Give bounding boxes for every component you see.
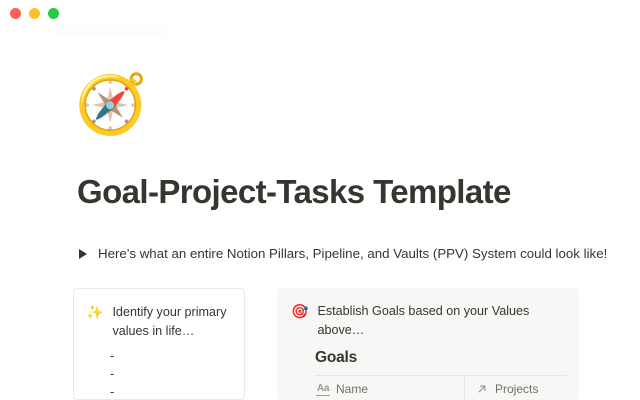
callout-text: Identify your primary values in life…	[112, 303, 232, 341]
callout-text: Establish Goals based on your Values abo…	[317, 302, 555, 340]
table-header-row: Aa Name Projects	[315, 376, 567, 400]
values-callout-card[interactable]: ✨ Identify your primary values in life… …	[73, 288, 245, 400]
values-bullet-list: - - -	[86, 347, 232, 400]
callout-header: 🎯 Establish Goals based on your Values a…	[277, 302, 579, 340]
page-content: 🧭 Goal-Project-Tasks Template Here's wha…	[0, 0, 640, 400]
goals-database-table: Aa Name Projects	[315, 375, 567, 400]
column-header-name[interactable]: Aa Name	[315, 376, 465, 400]
minimize-window-button[interactable]	[29, 8, 40, 19]
database-title[interactable]: Goals	[315, 349, 579, 367]
toggle-label: Here's what an entire Notion Pillars, Pi…	[98, 245, 607, 263]
list-item[interactable]: -	[110, 383, 232, 400]
list-item[interactable]: -	[110, 347, 232, 365]
maximize-window-button[interactable]	[48, 8, 59, 19]
close-window-button[interactable]	[10, 8, 21, 19]
column-header-label: Name	[336, 382, 368, 396]
triangle-right-icon[interactable]	[77, 245, 89, 263]
sparkles-emoji: ✨	[86, 303, 103, 321]
dart-emoji: 🎯	[291, 302, 308, 320]
page-title: Goal-Project-Tasks Template	[77, 173, 511, 211]
goals-callout-card[interactable]: 🎯 Establish Goals based on your Values a…	[277, 288, 579, 400]
compass-emoji[interactable]: 🧭	[75, 76, 147, 134]
arrow-up-right-icon	[475, 382, 489, 396]
toggle-block[interactable]: Here's what an entire Notion Pillars, Pi…	[77, 245, 577, 263]
callout-header: ✨ Identify your primary values in life…	[86, 303, 232, 341]
column-list: ✨ Identify your primary values in life… …	[73, 288, 579, 400]
column-header-projects[interactable]: Projects	[465, 376, 566, 400]
list-item[interactable]: -	[110, 365, 232, 383]
column-header-label: Projects	[495, 382, 538, 396]
window-titlebar	[0, 0, 640, 26]
aa-text-icon: Aa	[316, 382, 330, 396]
